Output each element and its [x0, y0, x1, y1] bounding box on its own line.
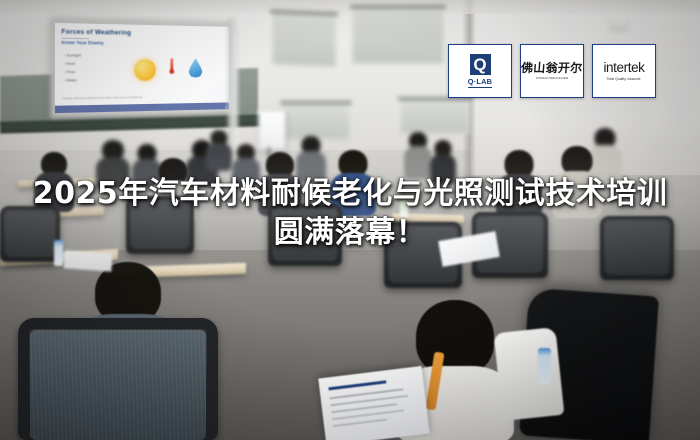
slide-bullet: Water: [64, 76, 82, 84]
slide-title: Forces of Weathering: [61, 28, 131, 36]
window-blind: [352, 8, 444, 64]
sponsor-logo-strip: Q Q·LAB 佛山翁开尔 FOSHAN WENGKAIER intertek …: [448, 44, 656, 98]
handout-booklet: [318, 366, 430, 440]
attendee: [404, 132, 432, 178]
white-bag: [494, 327, 565, 421]
q-lab-wordmark: Q·LAB: [468, 77, 492, 88]
slide-bullet: Sunlight: [64, 51, 82, 59]
paper-document: [63, 250, 112, 271]
slide-bullet: Time: [64, 68, 82, 76]
logo-card-foshan-wengkaier: 佛山翁开尔 FOSHAN WENGKAIER: [520, 44, 584, 98]
headline-line-1: 2025年汽车材料耐候老化与光照测试技术培训: [0, 176, 700, 211]
window-blind: [272, 13, 336, 67]
sun-icon: [134, 59, 156, 81]
headline-line-2: 圆满落幕！: [0, 215, 700, 250]
flipchart-board: [258, 110, 286, 150]
wengkaier-tagline: FOSHAN WENGKAIER: [536, 76, 568, 80]
office-chair-foreground-left: [18, 318, 218, 440]
intertek-tagline: Total Quality. Assured.: [607, 77, 642, 81]
q-lab-mark-icon: Q: [470, 54, 491, 75]
wall-fixture: [610, 14, 628, 30]
logo-card-intertek: intertek Total Quality. Assured.: [592, 44, 656, 98]
slide-page-number: 3: [225, 105, 227, 109]
door-frame: [228, 18, 238, 148]
projector-screen: Forces of Weathering Know Your Enemy Sun…: [55, 23, 229, 113]
window-blind: [400, 100, 470, 134]
thermometer-icon: [169, 58, 174, 77]
logo-card-q-lab: Q Q·LAB: [448, 44, 512, 98]
slide-bullet: Heat: [64, 60, 82, 68]
water-drop-icon: [188, 58, 202, 78]
slide-subtitle: Know Your Enemy: [61, 39, 103, 45]
window-blind: [282, 104, 350, 140]
training-event-poster: Forces of Weathering Know Your Enemy Sun…: [0, 0, 700, 440]
intertek-wordmark: intertek: [603, 61, 644, 75]
slide-footnote: Sunlight, heat and moisture are the thre…: [62, 95, 221, 100]
poster-headline: 2025年汽车材料耐候老化与光照测试技术培训 圆满落幕！: [0, 176, 700, 251]
water-bottle: [538, 348, 551, 384]
attendee: [206, 130, 232, 170]
slide-bullet-list: Sunlight Heat Time Water: [64, 51, 82, 84]
wengkaier-wordmark-cn: 佛山翁开尔: [521, 62, 583, 74]
